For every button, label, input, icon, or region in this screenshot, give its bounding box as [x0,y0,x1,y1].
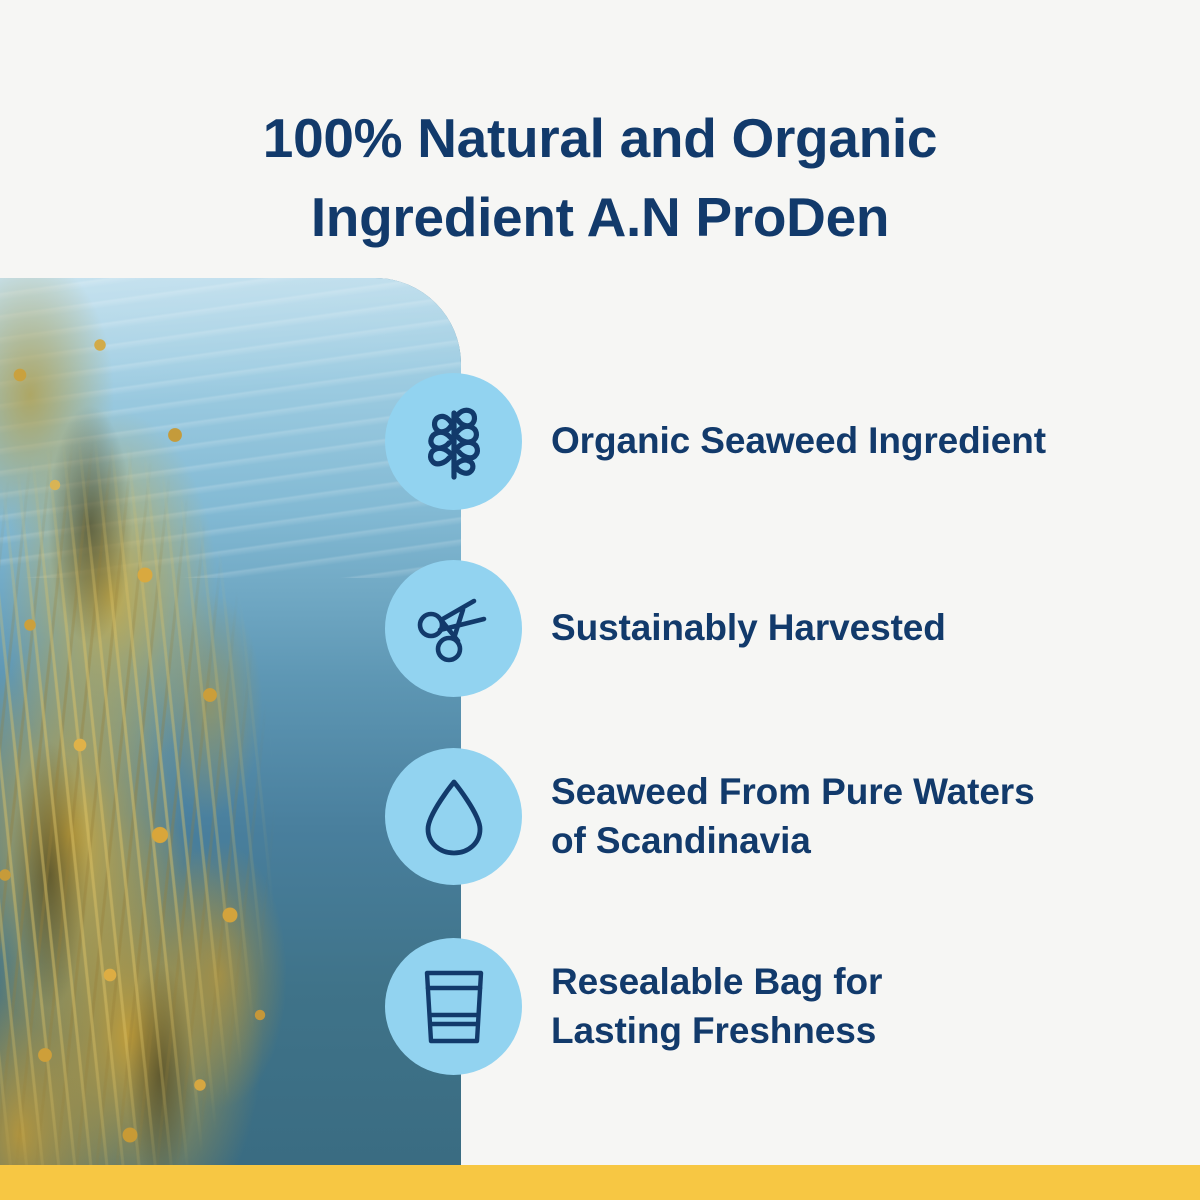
promo-infographic: 100% Natural and Organic Ingredient A.N … [0,0,1200,1200]
feature-label: Sustainably Harvested [551,604,946,653]
accent-bottom-bar [0,1165,1200,1200]
feature-icon-badge [385,938,522,1075]
scissors-icon [414,589,494,669]
feature-icon-badge [385,373,522,510]
feature-label: Seaweed From Pure Waters of Scandinavia [551,768,1035,866]
feature-item-resealable-bag: Resealable Bag for Lasting Freshness [385,938,1145,1075]
seaweed-plant [0,278,390,1165]
page-title: 100% Natural and Organic Ingredient A.N … [0,99,1200,257]
feature-item-organic-seaweed: Organic Seaweed Ingredient [385,373,1145,510]
feature-icon-badge [385,748,522,885]
seaweed-frond-icon [415,402,493,482]
feature-label: Resealable Bag for Lasting Freshness [551,958,882,1056]
seaweed-air-bladders [0,278,360,1165]
feature-label: Organic Seaweed Ingredient [551,417,1046,466]
feature-icon-badge [385,560,522,697]
feature-item-pure-waters: Seaweed From Pure Waters of Scandinavia [385,748,1145,885]
resealable-bag-icon [419,967,489,1047]
water-droplet-icon [420,776,488,858]
feature-item-sustainably-harvested: Sustainably Harvested [385,560,1145,697]
